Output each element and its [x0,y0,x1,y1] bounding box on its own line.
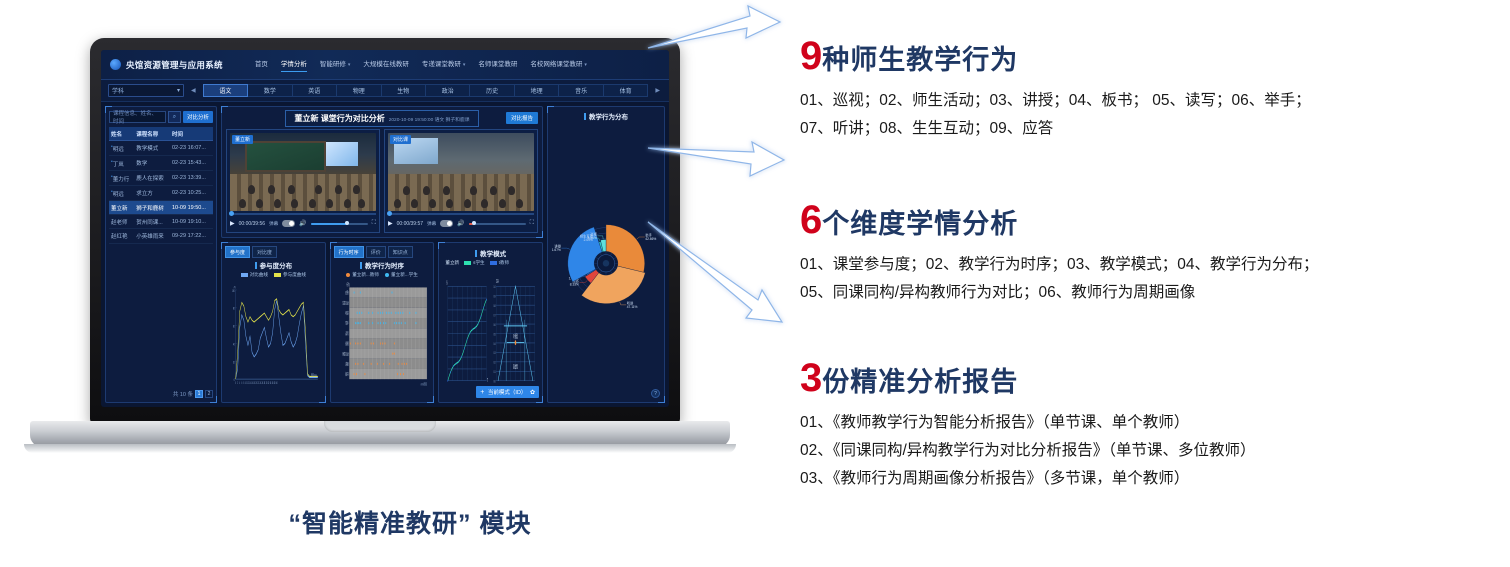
svg-text:0.3: 0.3 [494,350,496,355]
cell-course: 数学 [134,156,170,171]
progress-handle[interactable] [229,211,234,216]
nav-label: 大规模在线教研 [363,61,409,68]
chevron-down-icon: ▾ [348,62,351,68]
cell-name: 赵红艳 [109,229,134,243]
block-3-line-1: 01、《教师教学行为智能分析报告》（单节课、单个教师） [800,409,1256,437]
course-table: 姓名 课程名称 时间 •明远教学模式02-23 16:07... •丁岚数学02… [109,127,213,244]
svg-text:42.86%: 42.86% [645,237,656,241]
svg-text:20: 20 [233,359,235,364]
subject-select-value: 学科 [112,86,124,95]
nav-label: 智能研修 [320,61,346,68]
video-progress-right[interactable] [388,213,534,215]
column-name: 姓名 [109,127,134,141]
app-logo-icon [110,59,121,70]
svg-text:举手: 举手 [345,319,348,326]
table-row[interactable]: •丁岚数学02-23 15:43... [109,156,213,171]
students [388,177,534,208]
danmaku-label-left: 弹幕 [269,221,278,227]
projector-screen [326,142,358,165]
subject-tab-1[interactable]: 数学 [248,84,292,97]
subject-tab-7[interactable]: 地理 [515,84,559,97]
legend-label: 对比曲线 [250,272,268,277]
danmaku-toggle-right[interactable] [440,220,453,227]
svg-text:0: 0 [235,381,236,385]
cell-name: •董力行 [109,171,134,186]
participation-panel: 参与度 对比度 参与度分布 对比曲线 参与度曲线 020406080100024… [221,242,326,403]
fullscreen-icon[interactable]: ⛶ [530,220,534,227]
pagination[interactable]: 共 10 条 1 2 [109,387,213,398]
students [230,177,376,208]
block-1-head: 9 种师生教学行为 [800,36,1311,77]
bottom-charts-row: 参与度 对比度 参与度分布 对比曲线 参与度曲线 020406080100024… [221,242,543,403]
chevron-down-icon: ▾ [177,87,180,94]
volume-slider-left[interactable] [311,223,368,225]
behavior-pie-chart: 举手42.86%听讲47.11%应答8.33%板书1.39%讲授41.67%师生… [552,121,660,398]
tab-participation[interactable]: 参与度 [225,246,250,258]
svg-text:6: 6 [241,381,242,385]
right-content: 9 种师生教学行为 01、巡视；02、师生活动；03、讲授；04、板书； 05、… [786,0,1510,567]
svg-text:/%: /% [234,285,236,290]
video-row: 董立新 [226,129,538,233]
svg-text:0.2: 0.2 [494,360,496,365]
cell-name: 董立新 [109,201,134,215]
block-2-line-2: 05、同课同构/异构教师行为对比；06、教师行为周期画像 [800,279,1318,307]
cell-time: 02-23 10:25... [170,186,213,201]
behavior-distribution-panel: 教学行为分布 举手42.86%听讲47.11%应答8.33%板书1.39%讲授4… [547,106,665,403]
participation-title: 参与度分布 [225,260,322,270]
mode-title: 教学模式 [442,248,539,258]
block-2: 6 个维度学情分析 01、课堂参与度；02、教学行为时序；03、教学模式；04、… [800,200,1318,307]
subjects-prev-button[interactable]: ◀ [189,87,198,94]
volume-icon[interactable]: 🔊 [299,220,306,227]
legend-item-teachername: 董立新 [445,260,459,266]
tab-evaluation[interactable]: 评价 [366,246,386,258]
nav-item-4[interactable]: 专递课堂教研▾ [422,58,466,71]
video-tag-left: 董立新 [232,135,253,144]
subject-tab-2[interactable]: 英语 [293,84,337,97]
settings-icon[interactable]: ✿ [530,389,535,396]
subjects-next-button[interactable]: ▶ [653,87,662,94]
svg-text:听讲: 听讲 [345,309,348,316]
subject-tab-3[interactable]: 物理 [337,84,381,97]
svg-text:CH: CH [496,279,498,284]
svg-text:师生互动: 师生互动 [342,350,348,357]
blackboard [245,141,327,172]
laptop-screen: 央馆资源管理与应用系统 首页 学情分析 智能研修▾ 大规模在线教研 专递课堂教研… [101,50,669,407]
svg-text:混合型: 混合型 [513,363,518,370]
svg-text:5.56%: 5.56% [588,236,597,240]
legend-item-teacher: t教师 [490,260,509,266]
block-2-head: 6 个维度学情分析 [800,200,1318,241]
tab-behavior-timeline[interactable]: 行为时序 [334,246,364,258]
play-icon[interactable]: ▶ [230,220,235,227]
block-2-lines: 01、课堂参与度；02、教学行为时序；03、教学模式；04、教学行为分布； 05… [800,251,1318,307]
svg-text:0.1: 0.1 [494,369,496,374]
timeline-title-text: 教学行为时序 [365,260,404,270]
cell-name: 赵老师 [109,215,134,229]
svg-text:0.8: 0.8 [494,303,496,308]
analysis-title-row: 董立新 课堂行为对比分析 2020-10-09 19:50:00 语文 狮子和鹿… [226,110,538,127]
nav-label: 名师课堂教研 [478,61,517,68]
analysis-title-box: 董立新 课堂行为对比分析 2020-10-09 19:50:00 语文 狮子和鹿… [285,110,478,127]
help-icon[interactable]: ? [651,389,660,398]
block-1-line-1: 01、巡视；02、师生活动；03、讲授；04、板书； 05、读写；06、举手； [800,87,1311,115]
svg-text:对话型: 对话型 [513,333,518,340]
block-1-number: 9 [800,36,822,76]
subject-filter-bar: 学科 ▾ ◀ 语文 数学 英语 物理 生物 政治 历史 地理 音乐 体育 ▶ [101,80,669,102]
plus-icon[interactable]: + [480,389,484,396]
svg-text:0.4: 0.4 [494,341,496,346]
nav-label: 专递课堂教研 [422,61,461,68]
cell-course: 贺州同课... [134,215,170,229]
row-name: 明远 [113,191,124,197]
laptop-mockup: 央馆资源管理与应用系统 首页 学情分析 智能研修▾ 大规模在线教研 专递课堂教研… [30,38,730,458]
search-input[interactable]: 课程信息、姓名、时间 [109,111,166,123]
row-name: 董力行 [113,176,130,182]
cell-name: •明远 [109,141,134,156]
subject-tab-0[interactable]: 语文 [203,84,248,97]
cell-name: •明远 [109,186,134,201]
page-subtitle: 2020-10-09 19:50:00 语文 狮子和鹿课 [389,116,470,123]
mode-chart: ST1.00.90.80.70.60.50.40.30.20.10.0对话型混合… [442,268,539,399]
page-button-1[interactable]: 1 [195,390,203,398]
table-row[interactable]: 赵老师贺州同课...10-09 19:10... [109,215,213,229]
participation-chart: 0204060801000246810121416182022242628303… [225,280,322,399]
pagination-total: 共 10 条 [173,390,193,398]
nav-item-0[interactable]: 首页 [255,58,268,71]
classroom-image-left [230,133,376,211]
svg-text:巡视: 巡视 [345,340,348,347]
svg-text:60: 60 [233,324,235,329]
cell-time: 02-23 16:07... [170,141,213,156]
participation-tabs[interactable]: 参与度 对比度 [225,246,322,258]
cell-course: 狮子和鹿树 [134,201,170,215]
volume-icon[interactable]: 🔊 [457,220,464,227]
svg-text:T: T [487,378,488,383]
video-tag-right: 对比课 [390,135,411,144]
block-1-lines: 01、巡视；02、师生活动；03、讲授；04、板书； 05、读写；06、举手； … [800,87,1311,143]
cell-time: 02-23 15:43... [170,156,213,171]
current-mode-label: 当前模式（ID） [488,388,527,396]
nav-item-5[interactable]: 名师课堂教研 [478,58,517,71]
video-frame-left[interactable] [230,133,376,211]
table-row[interactable]: •明远教学模式02-23 16:07... [109,141,213,156]
svg-text:4: 4 [239,381,240,385]
course-list-panel: 课程信息、姓名、时间 ⌕ 对比分析 姓名 课程名称 时间 [105,106,217,403]
tab-knowledge-point[interactable]: 知识点 [388,246,413,258]
block-3-lines: 01、《教师教学行为智能分析报告》（单节课、单个教师） 02、《同课同构/异构教… [800,409,1256,493]
legend-label: 董立新...学生 [391,272,418,277]
timeline-chart: 应答生生互动听讲举手读写巡视师生互动讲授板书行为min/时间 [334,280,431,399]
legend-label: 董立新...教师 [352,272,379,277]
svg-text:S: S [447,281,448,286]
app-topbar: 央馆资源管理与应用系统 首页 学情分析 智能研修▾ 大规模在线教研 专递课堂教研… [101,50,669,80]
current-mode-button[interactable]: + 当前模式（ID） ✿ [476,386,539,398]
teaching-mode-panel: 教学模式 董立新 s学生 t教师 ST1.00.90.80.70.60.50.4… [438,242,543,403]
dashboard-body: 课程信息、姓名、时间 ⌕ 对比分析 姓名 课程名称 时间 [101,102,669,407]
svg-text:0.6: 0.6 [494,322,496,327]
block-1-line-2: 07、听讲；08、生生互动；09、应答 [800,115,1311,143]
subject-tab-4[interactable]: 生物 [382,84,426,97]
cell-name: •丁岚 [109,156,134,171]
subject-tab-6[interactable]: 历史 [470,84,514,97]
search-icon[interactable]: ⌕ [168,111,181,123]
pie-title-text: 教学行为分布 [589,111,628,121]
danmaku-toggle-left[interactable] [282,220,295,227]
subject-tab-8[interactable]: 音乐 [559,84,603,97]
video-progress-left[interactable] [230,213,376,215]
svg-text:1.0: 1.0 [494,284,496,289]
fullscreen-icon[interactable]: ⛶ [372,220,376,227]
mode-title-text: 教学模式 [480,248,506,258]
svg-text:讲授: 讲授 [345,360,348,367]
classroom-image-right [388,133,534,211]
block-3-number: 3 [800,358,822,398]
timeline-tabs[interactable]: 行为时序 评价 知识点 [334,246,431,258]
video-time-left: 00:00/39:56 [239,221,265,227]
cell-course: 鹿人在探索 [134,171,170,186]
svg-text:40: 40 [276,381,278,385]
compare-analysis-button[interactable]: 对比分析 [183,111,213,123]
legend-label: t教师 [499,260,509,265]
search-row: 课程信息、姓名、时间 ⌕ 对比分析 [109,111,213,123]
block-3-head: 3 份精准分析报告 [800,358,1256,399]
cell-time: 10-09 19:50... [170,201,213,215]
svg-text:生生互动: 生生互动 [342,299,348,306]
page-button-2[interactable]: 2 [205,390,213,398]
chevron-down-icon: ▾ [584,62,587,68]
center-column: 董立新 课堂行为对比分析 2020-10-09 19:50:00 语文 狮子和鹿… [221,106,543,403]
comparison-panel: 董立新 课堂行为对比分析 2020-10-09 19:50:00 语文 狮子和鹿… [221,106,543,238]
pie-title: 教学行为分布 [552,111,660,121]
legend-label: s学生 [473,260,485,265]
svg-text:应答: 应答 [345,289,348,296]
table-row-selected[interactable]: 董立新狮子和鹿树10-09 19:50... [109,201,213,215]
tab-comparison[interactable]: 对比度 [252,246,277,258]
laptop-base-shadow [24,444,736,453]
svg-text:min/时间: min/时间 [420,380,426,387]
svg-text:41.67%: 41.67% [552,248,561,252]
mode-legend: 董立新 s学生 t教师 [442,260,539,266]
subject-tabs[interactable]: 语文 数学 英语 物理 生物 政治 历史 地理 音乐 体育 [203,84,649,97]
row-name: 明远 [113,146,124,152]
nav-item-3[interactable]: 大规模在线教研 [363,58,409,71]
participation-legend: 对比曲线 参与度曲线 [225,272,322,278]
nav-item-1[interactable]: 学情分析 [281,58,307,71]
cell-course: 求立方 [134,186,170,201]
block-3-line-2: 02、《同课同构/异构教学行为对比分析报告》（单节课、多位教师） [800,437,1256,465]
svg-text:行为: 行为 [346,281,349,288]
svg-text:0.5: 0.5 [494,331,496,336]
video-player-right[interactable]: 对比课 [384,129,538,233]
timeline-title: 教学行为时序 [334,260,431,270]
cell-time: 10-09 19:10... [170,215,213,229]
svg-text:0.9: 0.9 [494,294,496,299]
table-row[interactable]: •董力行鹿人在探索02-23 13:39... [109,171,213,186]
video-controls-left: ▶ 00:00/39:56 弹幕 🔊 ⛶ [230,218,376,229]
block-1: 9 种师生教学行为 01、巡视；02、师生活动；03、讲授；04、板书； 05、… [800,36,1311,143]
svg-text:0.0: 0.0 [494,379,496,384]
svg-text:47.11%: 47.11% [627,305,638,309]
legend-label: 董立新 [445,260,459,265]
cell-course: 教学模式 [134,141,170,156]
cell-course: 小英雄雨来 [134,229,170,243]
laptop-lid: 央馆资源管理与应用系统 首页 学情分析 智能研修▾ 大规模在线教研 专递课堂教研… [90,38,680,423]
progress-handle[interactable] [387,211,392,216]
volume-slider-right[interactable] [469,223,526,225]
block-3-line-3: 03、《教师行为周期画像分析报告》（多节课，单个教师） [800,465,1256,493]
block-1-heading: 种师生教学行为 [822,38,1018,77]
subject-tab-9[interactable]: 体育 [604,84,648,97]
subject-select[interactable]: 学科 ▾ [108,84,184,97]
chevron-down-icon: ▾ [463,62,466,68]
video-time-right: 00:00/39:57 [397,221,423,227]
legend-label: 参与度曲线 [283,272,306,277]
video-player-left[interactable]: 董立新 [226,129,380,233]
block-3-heading: 份精准分析报告 [822,360,1018,399]
row-name: 丁岚 [113,161,124,167]
nav-label: 学情分析 [281,61,307,68]
table-row[interactable]: 赵红艳小英雄雨来09-29 17:22... [109,229,213,243]
video-controls-right: ▶ 00:00/39:57 弹幕 🔊 ⛶ [388,218,534,229]
nav-label: 名校网络课堂教研 [530,61,582,68]
play-icon[interactable]: ▶ [388,220,393,227]
cell-time: 09-29 17:22... [170,229,213,243]
report-button[interactable]: 对比报告 [506,112,538,124]
timeline-panel: 行为时序 评价 知识点 教学行为时序 董立新...教师 董立新...学生 应答生… [330,242,435,403]
svg-text:读写: 读写 [345,330,348,337]
legend-item-compare: 对比曲线 [241,272,268,278]
cell-time: 02-23 13:39... [170,171,213,186]
nav-label: 首页 [255,61,268,68]
main-nav[interactable]: 首页 学情分析 智能研修▾ 大规模在线教研 专递课堂教研▾ 名师课堂教研 名校网… [255,58,587,71]
legend-item-participation: 参与度曲线 [274,272,306,278]
block-2-heading: 个维度学情分析 [822,202,1018,241]
column-time: 时间 [170,127,213,141]
table-row[interactable]: •明远求立方02-23 10:25... [109,186,213,201]
nav-item-6[interactable]: 名校网络课堂教研▾ [530,58,587,71]
svg-text:8.33%: 8.33% [570,283,579,287]
danmaku-label-right: 弹幕 [427,221,436,227]
subject-tab-5[interactable]: 政治 [426,84,470,97]
participation-title-text: 参与度分布 [260,260,293,270]
block-2-line-1: 01、课堂参与度；02、教学行为时序；03、教学模式；04、教学行为分布； [800,251,1318,279]
module-caption: “智能精准教研” 模块 [30,504,790,540]
video-frame-right[interactable] [388,133,534,211]
svg-text:80: 80 [233,306,235,311]
svg-text:2: 2 [237,381,238,385]
search-placeholder: 课程信息、姓名、时间 [113,109,162,125]
table-header-row: 姓名 课程名称 时间 [109,127,213,141]
nav-item-2[interactable]: 智能研修▾ [320,58,351,71]
block-3: 3 份精准分析报告 01、《教师教学行为智能分析报告》（单节课、单个教师） 02… [800,358,1256,493]
column-course: 课程名称 [134,127,170,141]
page-title: 董立新 课堂行为对比分析 [294,113,384,124]
legend-item-student: s学生 [464,260,485,266]
timeline-legend: 董立新...教师 董立新...学生 [334,272,431,278]
svg-text:板书: 板书 [345,370,348,377]
svg-text:时间/min: 时间/min [311,371,317,378]
svg-text:40: 40 [233,341,235,346]
legend-item-student: 董立新...学生 [385,272,418,278]
block-2-number: 6 [800,200,822,240]
legend-item-teacher: 董立新...教师 [346,272,379,278]
svg-text:0.7: 0.7 [494,312,496,317]
system-title: 央馆资源管理与应用系统 [126,59,223,71]
